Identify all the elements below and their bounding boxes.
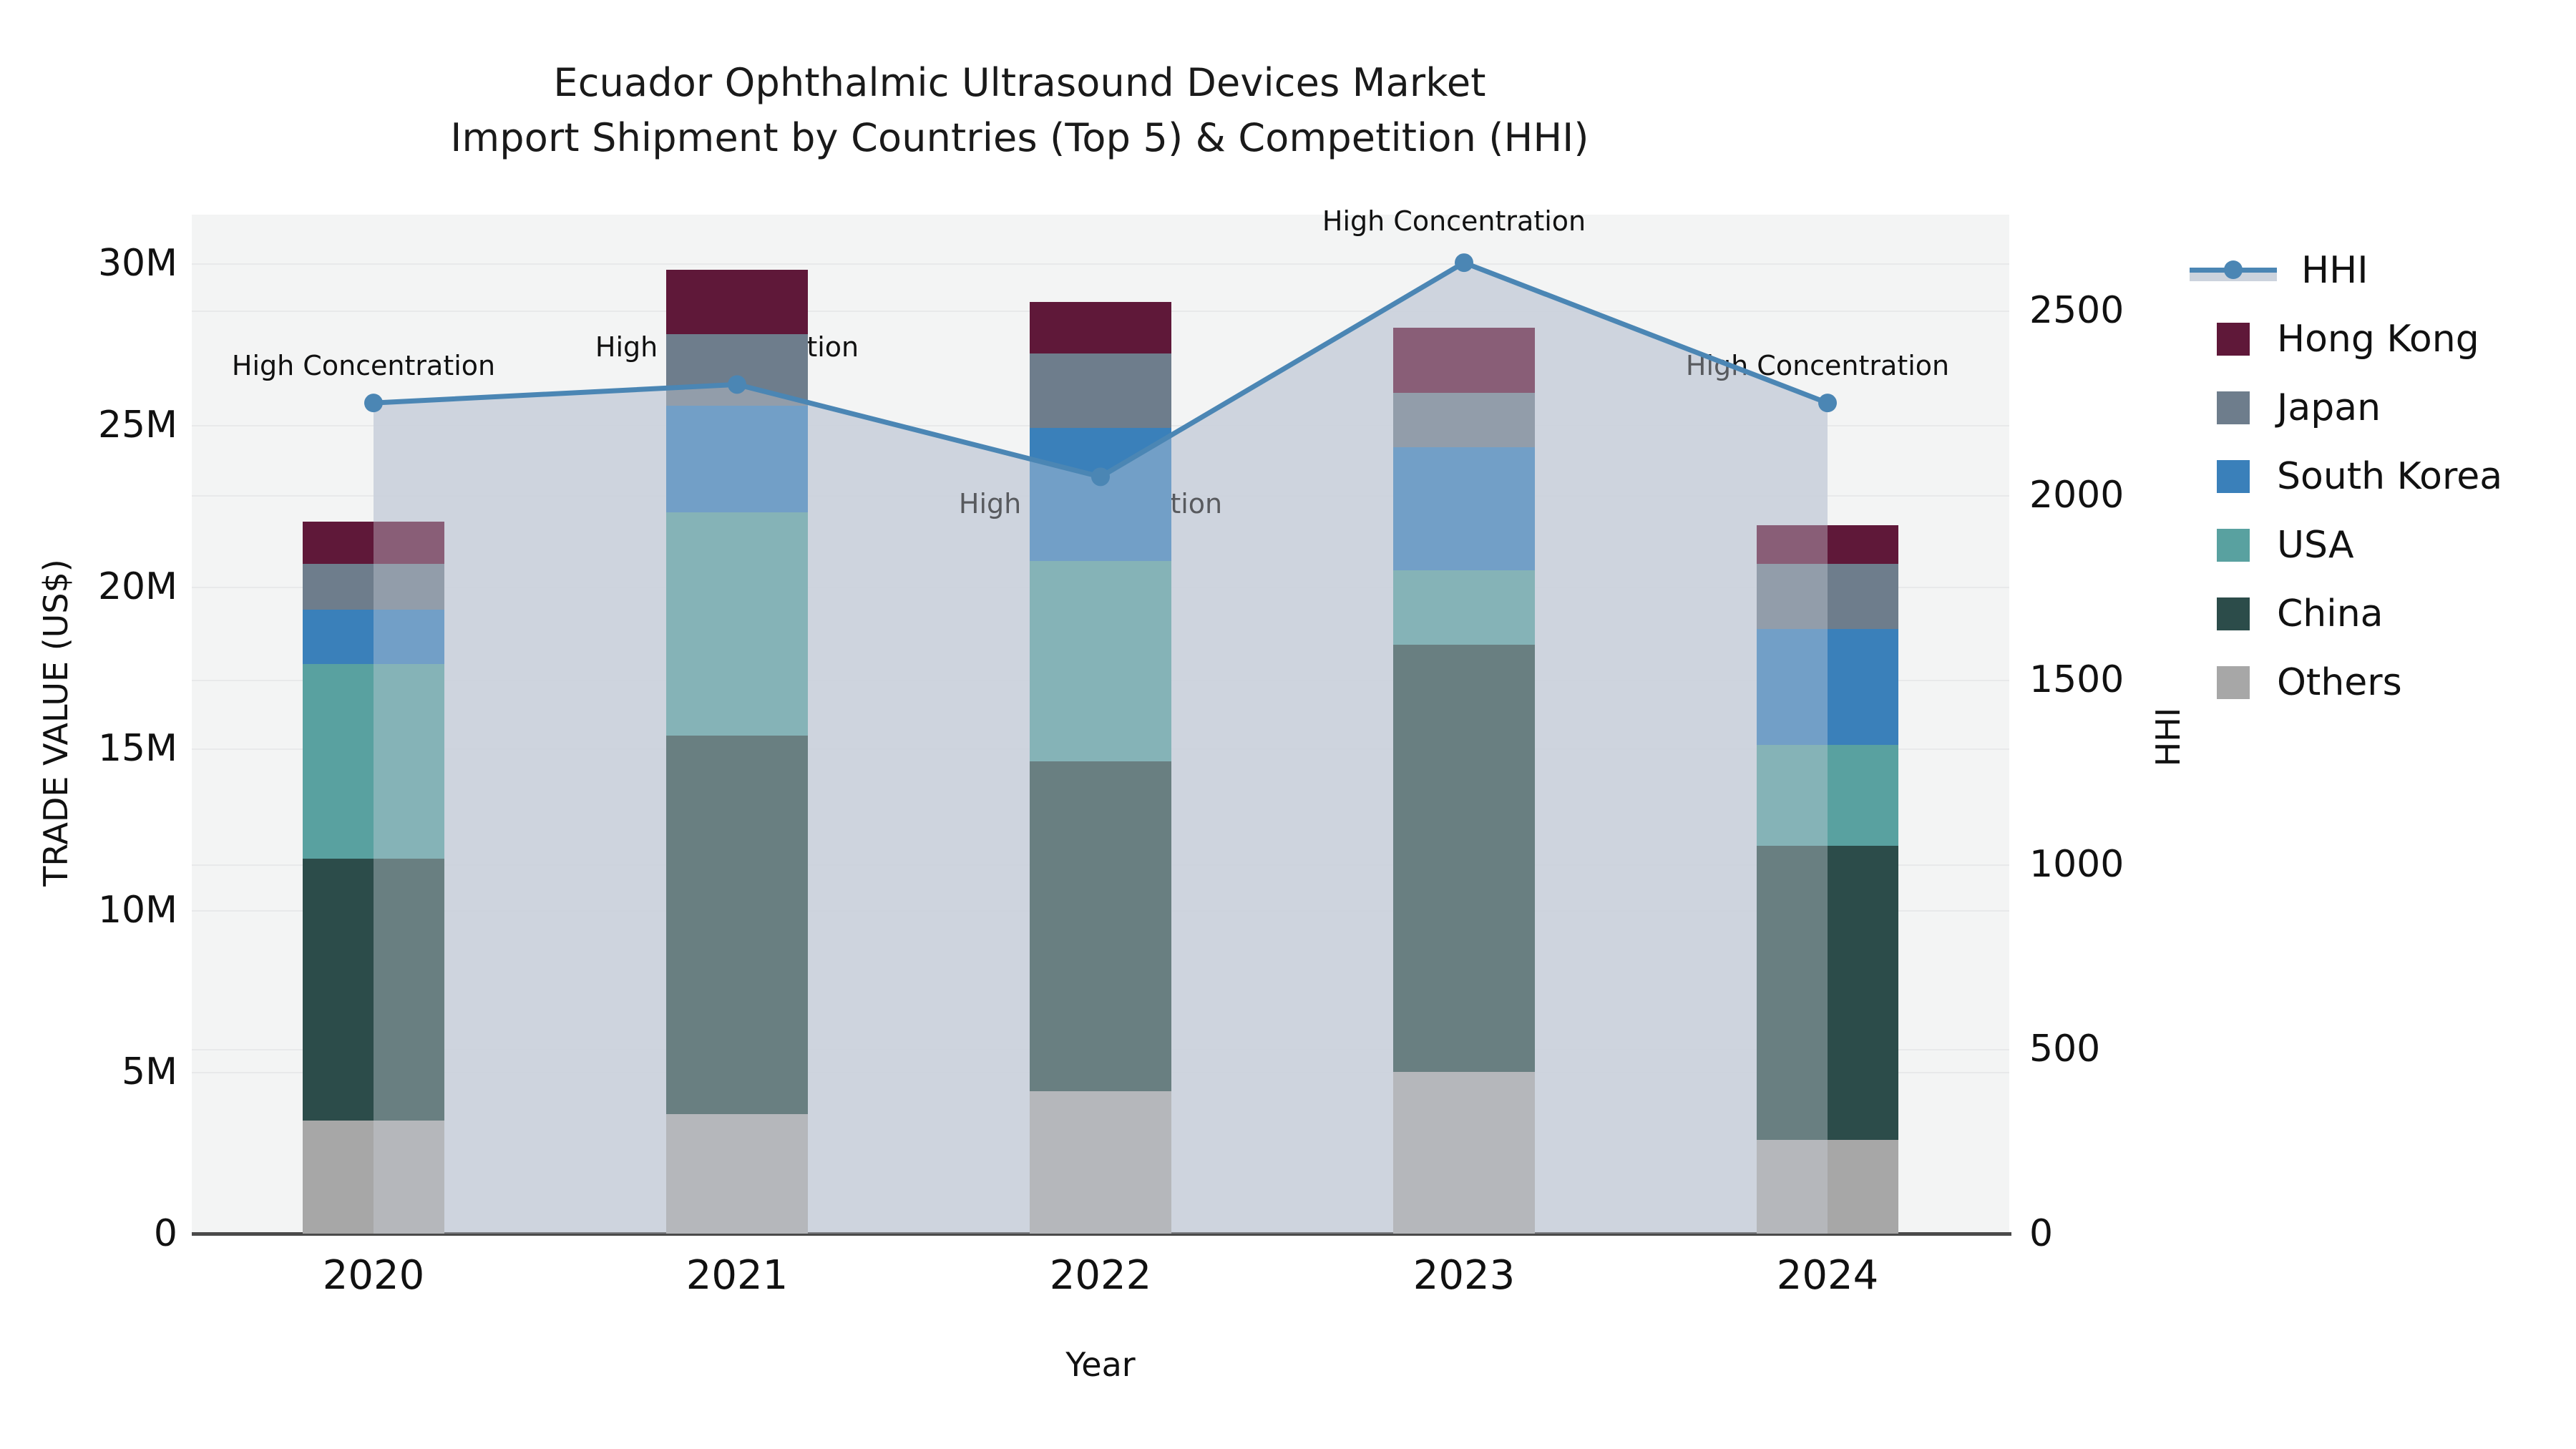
hhi-point-2021[interactable] bbox=[728, 375, 746, 394]
hhi-point-2020[interactable] bbox=[364, 394, 383, 412]
chart-root: Ecuador Ophthalmic Ultrasound Devices Ma… bbox=[0, 0, 2576, 1449]
hhi-area-overlay bbox=[374, 263, 1828, 1234]
hhi-point-2023[interactable] bbox=[1455, 253, 1473, 272]
hhi-line-layer bbox=[192, 215, 2009, 1234]
hhi-point-2022[interactable] bbox=[1091, 467, 1110, 486]
hhi-point-2024[interactable] bbox=[1818, 394, 1837, 412]
